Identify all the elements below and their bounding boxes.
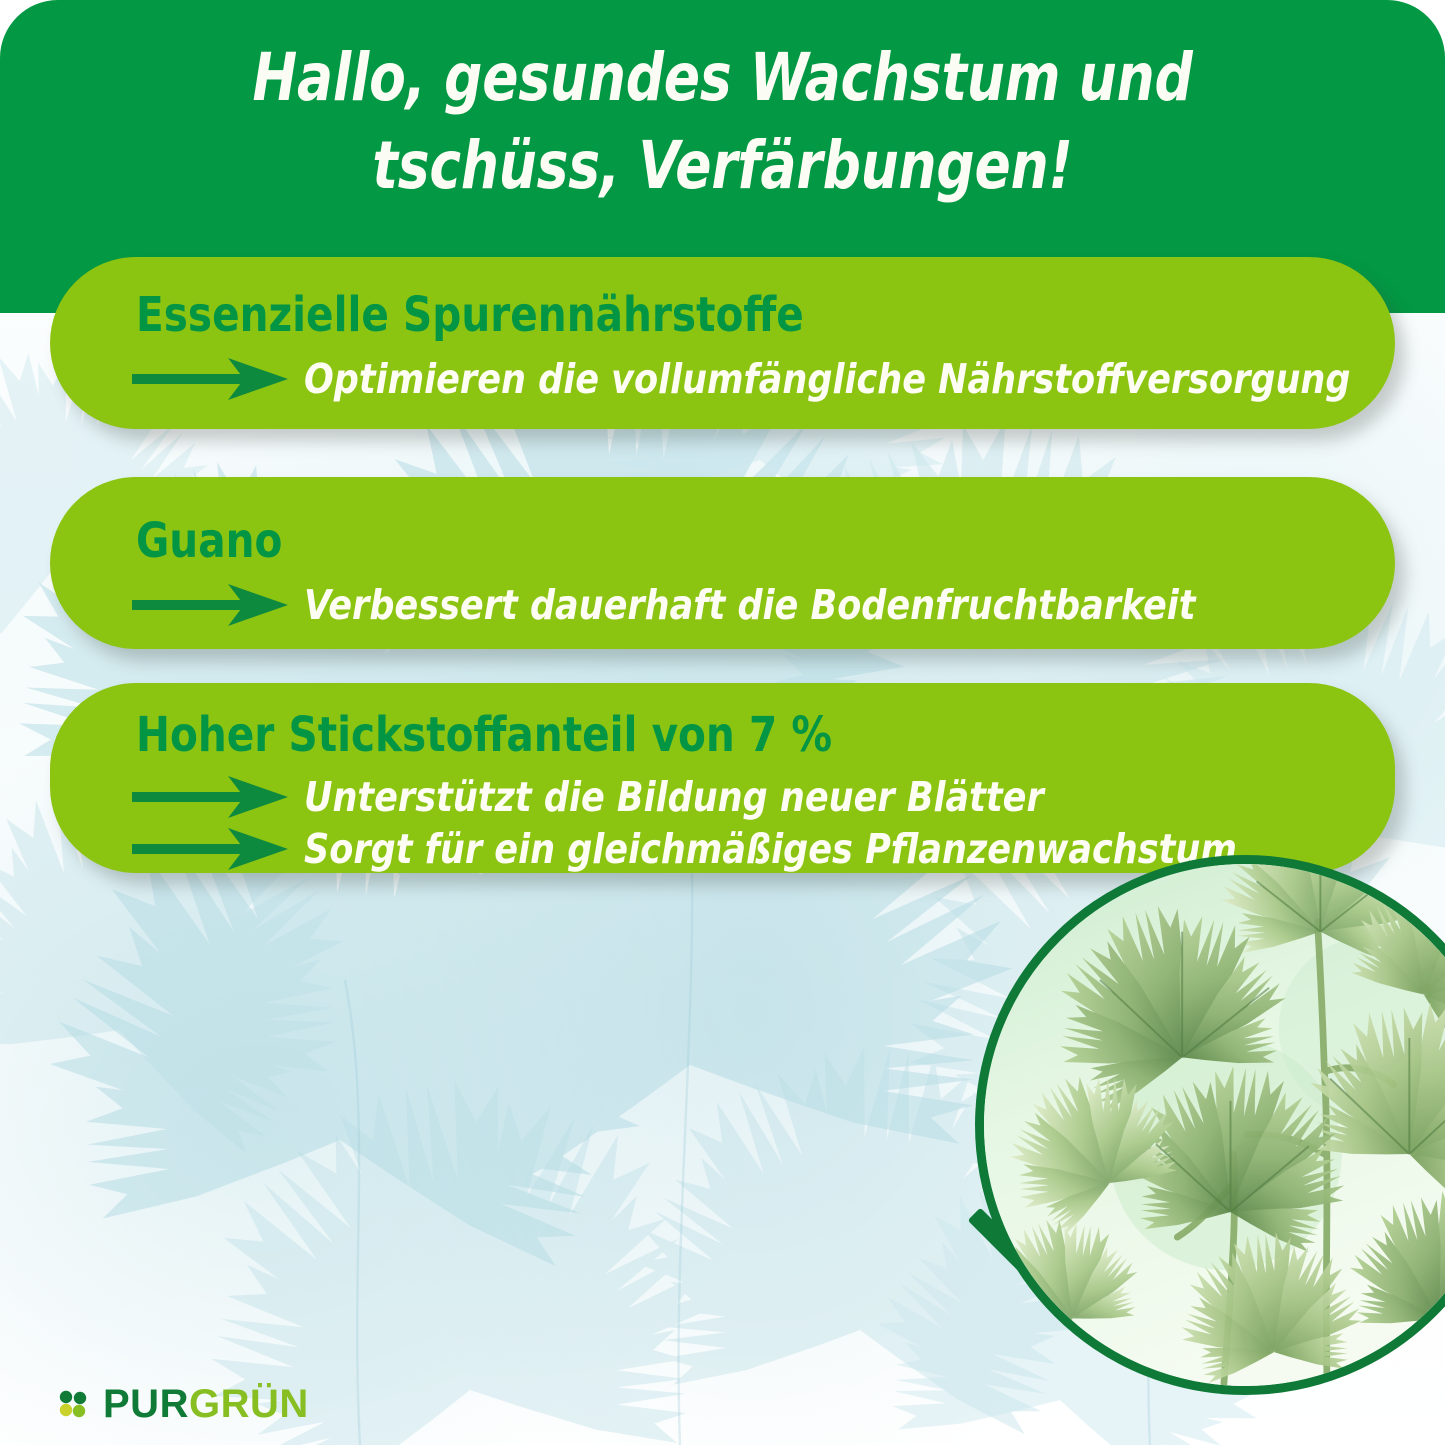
feature-card: Guano Verbessert dauerhaft die Bodenfruc…	[50, 477, 1395, 649]
flower-dots-icon	[56, 1387, 90, 1421]
arrow-right-icon	[132, 826, 288, 872]
hemp-plant-illustration	[984, 864, 1445, 1386]
feature-card-heading: Guano	[136, 517, 282, 565]
feature-card: Hoher Stickstoffanteil von 7 % Unterstüt…	[50, 683, 1395, 873]
brand-logo: PURGRÜN	[56, 1381, 309, 1427]
infographic-poster: Hallo, gesundes Wachstum und tschüss, Ve…	[0, 0, 1445, 1445]
magnifier-lens	[975, 855, 1445, 1395]
brand-logo-grun: GRÜN	[189, 1382, 309, 1426]
feature-bullet-list: Optimieren die vollumfängliche Nährstoff…	[132, 353, 1355, 405]
feature-bullet-text: Optimieren die vollumfängliche Nährstoff…	[304, 359, 1350, 400]
feature-bullet: Unterstützt die Bildung neuer Blätter	[132, 771, 1355, 823]
arrow-right-icon	[132, 774, 288, 820]
feature-bullet-text: Verbessert dauerhaft die Bodenfruchtbark…	[304, 585, 1196, 626]
feature-bullet-text: Unterstützt die Bildung neuer Blätter	[304, 777, 1044, 818]
page-title: Hallo, gesundes Wachstum und tschüss, Ve…	[72, 34, 1373, 210]
magnifier-icon	[975, 855, 1445, 1395]
arrow-right-icon	[132, 356, 288, 402]
feature-bullet: Optimieren die vollumfängliche Nährstoff…	[132, 353, 1355, 405]
brand-logo-text: PURGRÜN	[103, 1384, 309, 1424]
feature-card-heading: Essenzielle Spurennährstoffe	[136, 291, 804, 339]
feature-card-heading: Hoher Stickstoffanteil von 7 %	[136, 711, 832, 759]
feature-bullet-list: Verbessert dauerhaft die Bodenfruchtbark…	[132, 579, 1355, 631]
feature-bullet: Verbessert dauerhaft die Bodenfruchtbark…	[132, 579, 1355, 631]
brand-logo-pur: PUR	[103, 1382, 189, 1426]
arrow-right-icon	[132, 582, 288, 628]
feature-card: Essenzielle Spurennährstoffe Optimieren …	[50, 257, 1395, 429]
